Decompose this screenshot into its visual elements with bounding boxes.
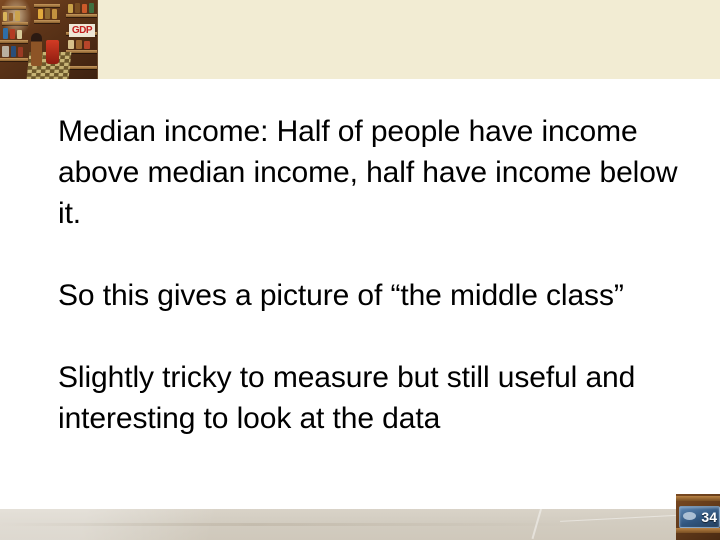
- shelf-slat: [66, 14, 97, 17]
- shelf-goods: [68, 4, 73, 13]
- footer-band-streak: [0, 523, 720, 526]
- body-paragraph-2: So this gives a picture of “the middle c…: [58, 275, 682, 316]
- shelf-goods: [89, 3, 94, 13]
- shelf-slat: [2, 22, 28, 25]
- shelf-goods: [17, 30, 22, 39]
- shelf-goods: [18, 47, 23, 57]
- barrel: [46, 40, 59, 64]
- plate-highlight: [683, 512, 696, 520]
- slide-number-thumbnail: 34: [676, 494, 720, 540]
- body-paragraph-3: Slightly tricky to measure but still use…: [58, 357, 682, 439]
- shelf-goods: [45, 8, 50, 19]
- shopper-figure: [31, 33, 42, 66]
- body-paragraph-1: Median income: Half of people have incom…: [58, 111, 682, 234]
- shelf-goods: [3, 12, 7, 21]
- header-band: [0, 0, 720, 79]
- shelf-goods: [52, 9, 57, 19]
- slide-number-plate: 34: [679, 506, 720, 528]
- shelf-goods: [75, 3, 80, 13]
- shelf-goods: [2, 46, 9, 57]
- shelf-slat: [676, 528, 720, 533]
- shelf-goods: [11, 46, 16, 57]
- shelf-goods: [9, 13, 13, 21]
- shelf-slat: [0, 58, 28, 61]
- shelf-goods: [10, 29, 15, 39]
- shelf-slat: [66, 66, 97, 69]
- shelf-slat: [34, 4, 60, 7]
- shelf-goods: [38, 9, 43, 19]
- shelf-slat: [34, 20, 60, 23]
- shelf-goods: [84, 41, 90, 49]
- header-thumbnail-image: GDP: [0, 0, 98, 79]
- gdp-sign: GDP: [69, 24, 95, 37]
- shelf-goods: [3, 28, 8, 39]
- shelf-slat: [2, 6, 26, 9]
- slide-body-text: Median income: Half of people have incom…: [58, 111, 682, 439]
- shelf-goods: [76, 40, 82, 49]
- slide-number: 34: [701, 508, 717, 526]
- slide-canvas: GDP Median income: Half of people have i…: [0, 0, 720, 540]
- shelf-goods: [68, 40, 74, 49]
- shelf-goods: [15, 11, 20, 21]
- shelf-slat: [0, 40, 28, 43]
- footer-band: [0, 509, 720, 540]
- shelf-goods: [82, 4, 87, 13]
- shelf-slat: [676, 496, 720, 501]
